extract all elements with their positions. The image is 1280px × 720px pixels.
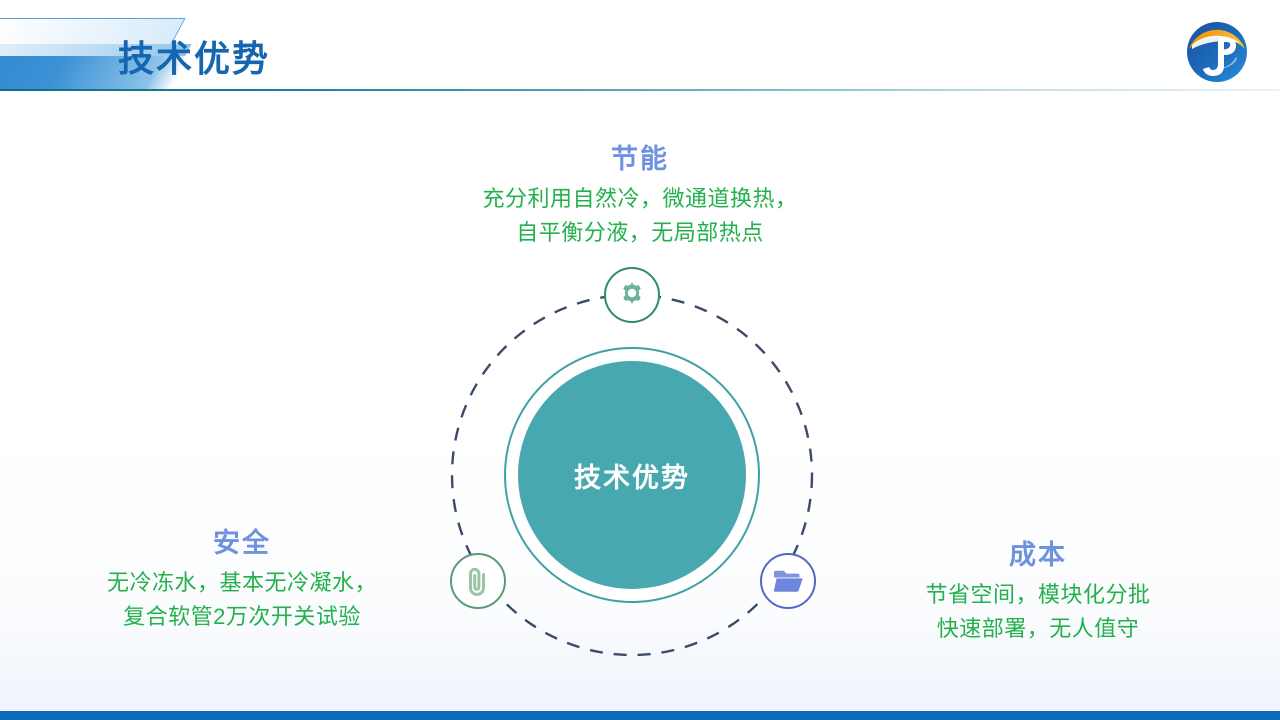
company-logo-icon	[1186, 21, 1248, 83]
block-energy-saving: 节能 充分利用自然冷，微通道换热， 自平衡分液，无局部热点	[380, 137, 900, 250]
gear-icon	[617, 280, 647, 310]
badge-paperclip[interactable]	[450, 553, 506, 609]
core-circle: 技术优势	[518, 361, 746, 589]
body-line: 节省空间，模块化分批	[838, 578, 1238, 612]
body-line: 快速部署，无人值守	[838, 612, 1238, 646]
badge-folder[interactable]	[760, 553, 816, 609]
footer-bar	[0, 711, 1280, 720]
block-safety-body: 无冷冻水，基本无冷凝水， 复合软管2万次开关试验	[42, 566, 442, 634]
block-safety-title: 安全	[42, 521, 442, 560]
block-cost-body: 节省空间，模块化分批 快速部署，无人值守	[838, 578, 1238, 646]
slide-header: 技术优势	[0, 0, 1280, 92]
body-line: 无冷冻水，基本无冷凝水，	[42, 566, 442, 600]
page-title: 技术优势	[118, 30, 270, 82]
badge-gear[interactable]	[604, 267, 660, 323]
body-line: 复合软管2万次开关试验	[42, 600, 442, 634]
body-line: 自平衡分液，无局部热点	[380, 216, 900, 250]
core-label: 技术优势	[574, 456, 690, 495]
body-line: 充分利用自然冷，微通道换热，	[380, 182, 900, 216]
block-safety: 安全 无冷冻水，基本无冷凝水， 复合软管2万次开关试验	[42, 521, 442, 634]
block-energy-saving-body: 充分利用自然冷，微通道换热， 自平衡分液，无局部热点	[380, 182, 900, 250]
header-divider-line	[0, 89, 1280, 91]
folder-icon	[772, 567, 804, 595]
slide: 技术优势 节能	[0, 0, 1280, 720]
block-cost-title: 成本	[838, 533, 1238, 572]
paperclip-icon	[463, 565, 493, 597]
center-diagram: 技术优势	[442, 285, 822, 665]
block-cost: 成本 节省空间，模块化分批 快速部署，无人值守	[838, 533, 1238, 646]
block-energy-saving-title: 节能	[380, 137, 900, 176]
